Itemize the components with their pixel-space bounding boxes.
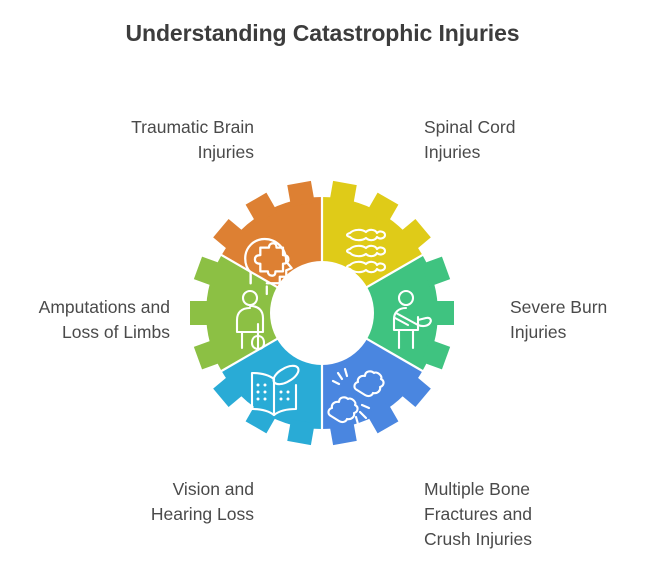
- label-severe-burn-injuries: Severe Burn Injuries: [510, 295, 645, 345]
- label-spinal-cord-injuries: Spinal Cord Injuries: [424, 115, 624, 165]
- label-traumatic-brain-injuries: Traumatic Brain Injuries: [34, 115, 254, 165]
- page-title: Understanding Catastrophic Injuries: [0, 20, 645, 47]
- label-amputations-loss-of-limbs: Amputations and Loss of Limbs: [8, 295, 170, 345]
- label-vision-and-hearing-loss: Vision and Hearing Loss: [70, 477, 254, 527]
- label-multiple-bone-fractures: Multiple Bone Fractures and Crush Injuri…: [424, 477, 624, 552]
- gear-wheel-diagram: [182, 173, 462, 453]
